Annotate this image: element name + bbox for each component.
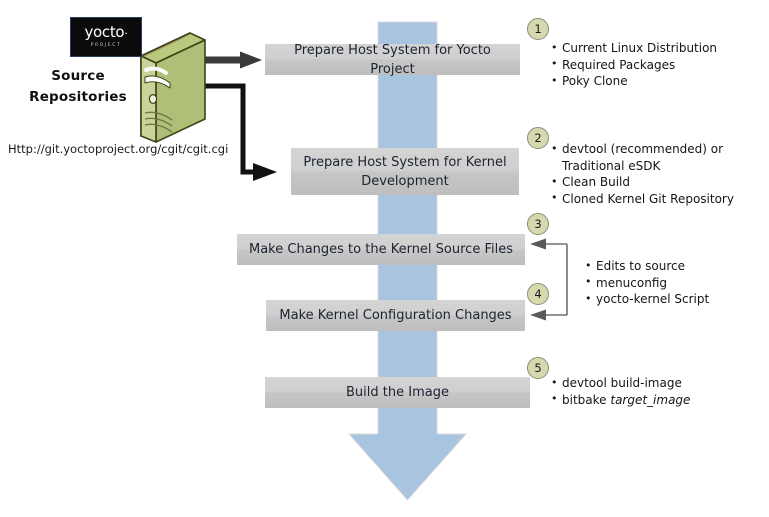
source-repositories-line1: Source — [18, 66, 138, 87]
bullet-item-continuation: Traditional eSDK — [551, 158, 734, 175]
process-box-step-3[interactable]: Make Changes to the Kernel Source Files — [237, 234, 525, 265]
bullet-item: Required Packages — [551, 57, 717, 74]
bullet-item: Current Linux Distribution — [551, 40, 717, 57]
process-box-step-1[interactable]: Prepare Host System for Yocto Project — [265, 44, 520, 75]
bullet-item: Cloned Kernel Git Repository — [551, 191, 734, 208]
process-box-step-4[interactable]: Make Kernel Configuration Changes — [266, 300, 525, 331]
process-box-step-4-label: Make Kernel Configuration Changes — [279, 306, 511, 325]
yocto-project-logo: yocto· PROJECT — [70, 17, 142, 57]
source-repositories-label: Source Repositories — [18, 66, 138, 108]
server-tower-icon — [141, 33, 205, 142]
yocto-logo-wordmark: yocto· — [84, 25, 127, 41]
step-badge-2: 2 — [527, 127, 549, 149]
yocto-logo-subtitle: PROJECT — [91, 42, 122, 49]
bullet-item: menuconfig — [585, 275, 709, 292]
step-badge-5: 5 — [527, 357, 549, 379]
bullet-item: devtool (recommended) or — [551, 141, 734, 158]
bullet-item-variable: target_image — [610, 393, 690, 407]
step-badge-1: 1 — [527, 18, 549, 40]
bullet-item: Clean Build — [551, 174, 734, 191]
bullet-list-steps-3-4: Edits to source menuconfig yocto-kernel … — [585, 258, 709, 308]
connector-server-to-step1 — [205, 52, 262, 69]
source-repositories-line2: Repositories — [18, 87, 138, 108]
yocto-logo-dot: · — [124, 27, 127, 40]
process-box-step-5[interactable]: Build the Image — [265, 377, 530, 408]
bullet-item: devtool build-image — [551, 375, 690, 392]
bullet-item: yocto-kernel Script — [585, 291, 709, 308]
bullet-item: Edits to source — [585, 258, 709, 275]
step-badge-4: 4 — [527, 283, 549, 305]
process-box-step-2-label: Prepare Host System for Kernel Developme… — [297, 153, 513, 191]
process-box-step-5-label: Build the Image — [346, 383, 449, 402]
bullet-list-step-1: Current Linux Distribution Required Pack… — [551, 40, 717, 90]
step-badge-3: 3 — [527, 213, 549, 235]
bullet-item: Poky Clone — [551, 73, 717, 90]
source-repositories-url: Http://git.yoctoproject.org/cgit/cgit.cg… — [8, 142, 228, 156]
process-box-step-1-label: Prepare Host System for Yocto Project — [271, 41, 514, 79]
connector-shared-steps-3-4 — [530, 239, 567, 321]
connector-server-to-step2 — [202, 86, 277, 181]
bullet-list-step-5: devtool build-image bitbake target_image — [551, 375, 690, 408]
bullet-list-step-2: devtool (recommended) or Traditional eSD… — [551, 141, 734, 207]
bullet-item: bitbake target_image — [551, 392, 690, 409]
process-box-step-3-label: Make Changes to the Kernel Source Files — [249, 240, 513, 259]
bullet-item-command: bitbake — [562, 393, 610, 407]
process-box-step-2[interactable]: Prepare Host System for Kernel Developme… — [291, 148, 519, 195]
